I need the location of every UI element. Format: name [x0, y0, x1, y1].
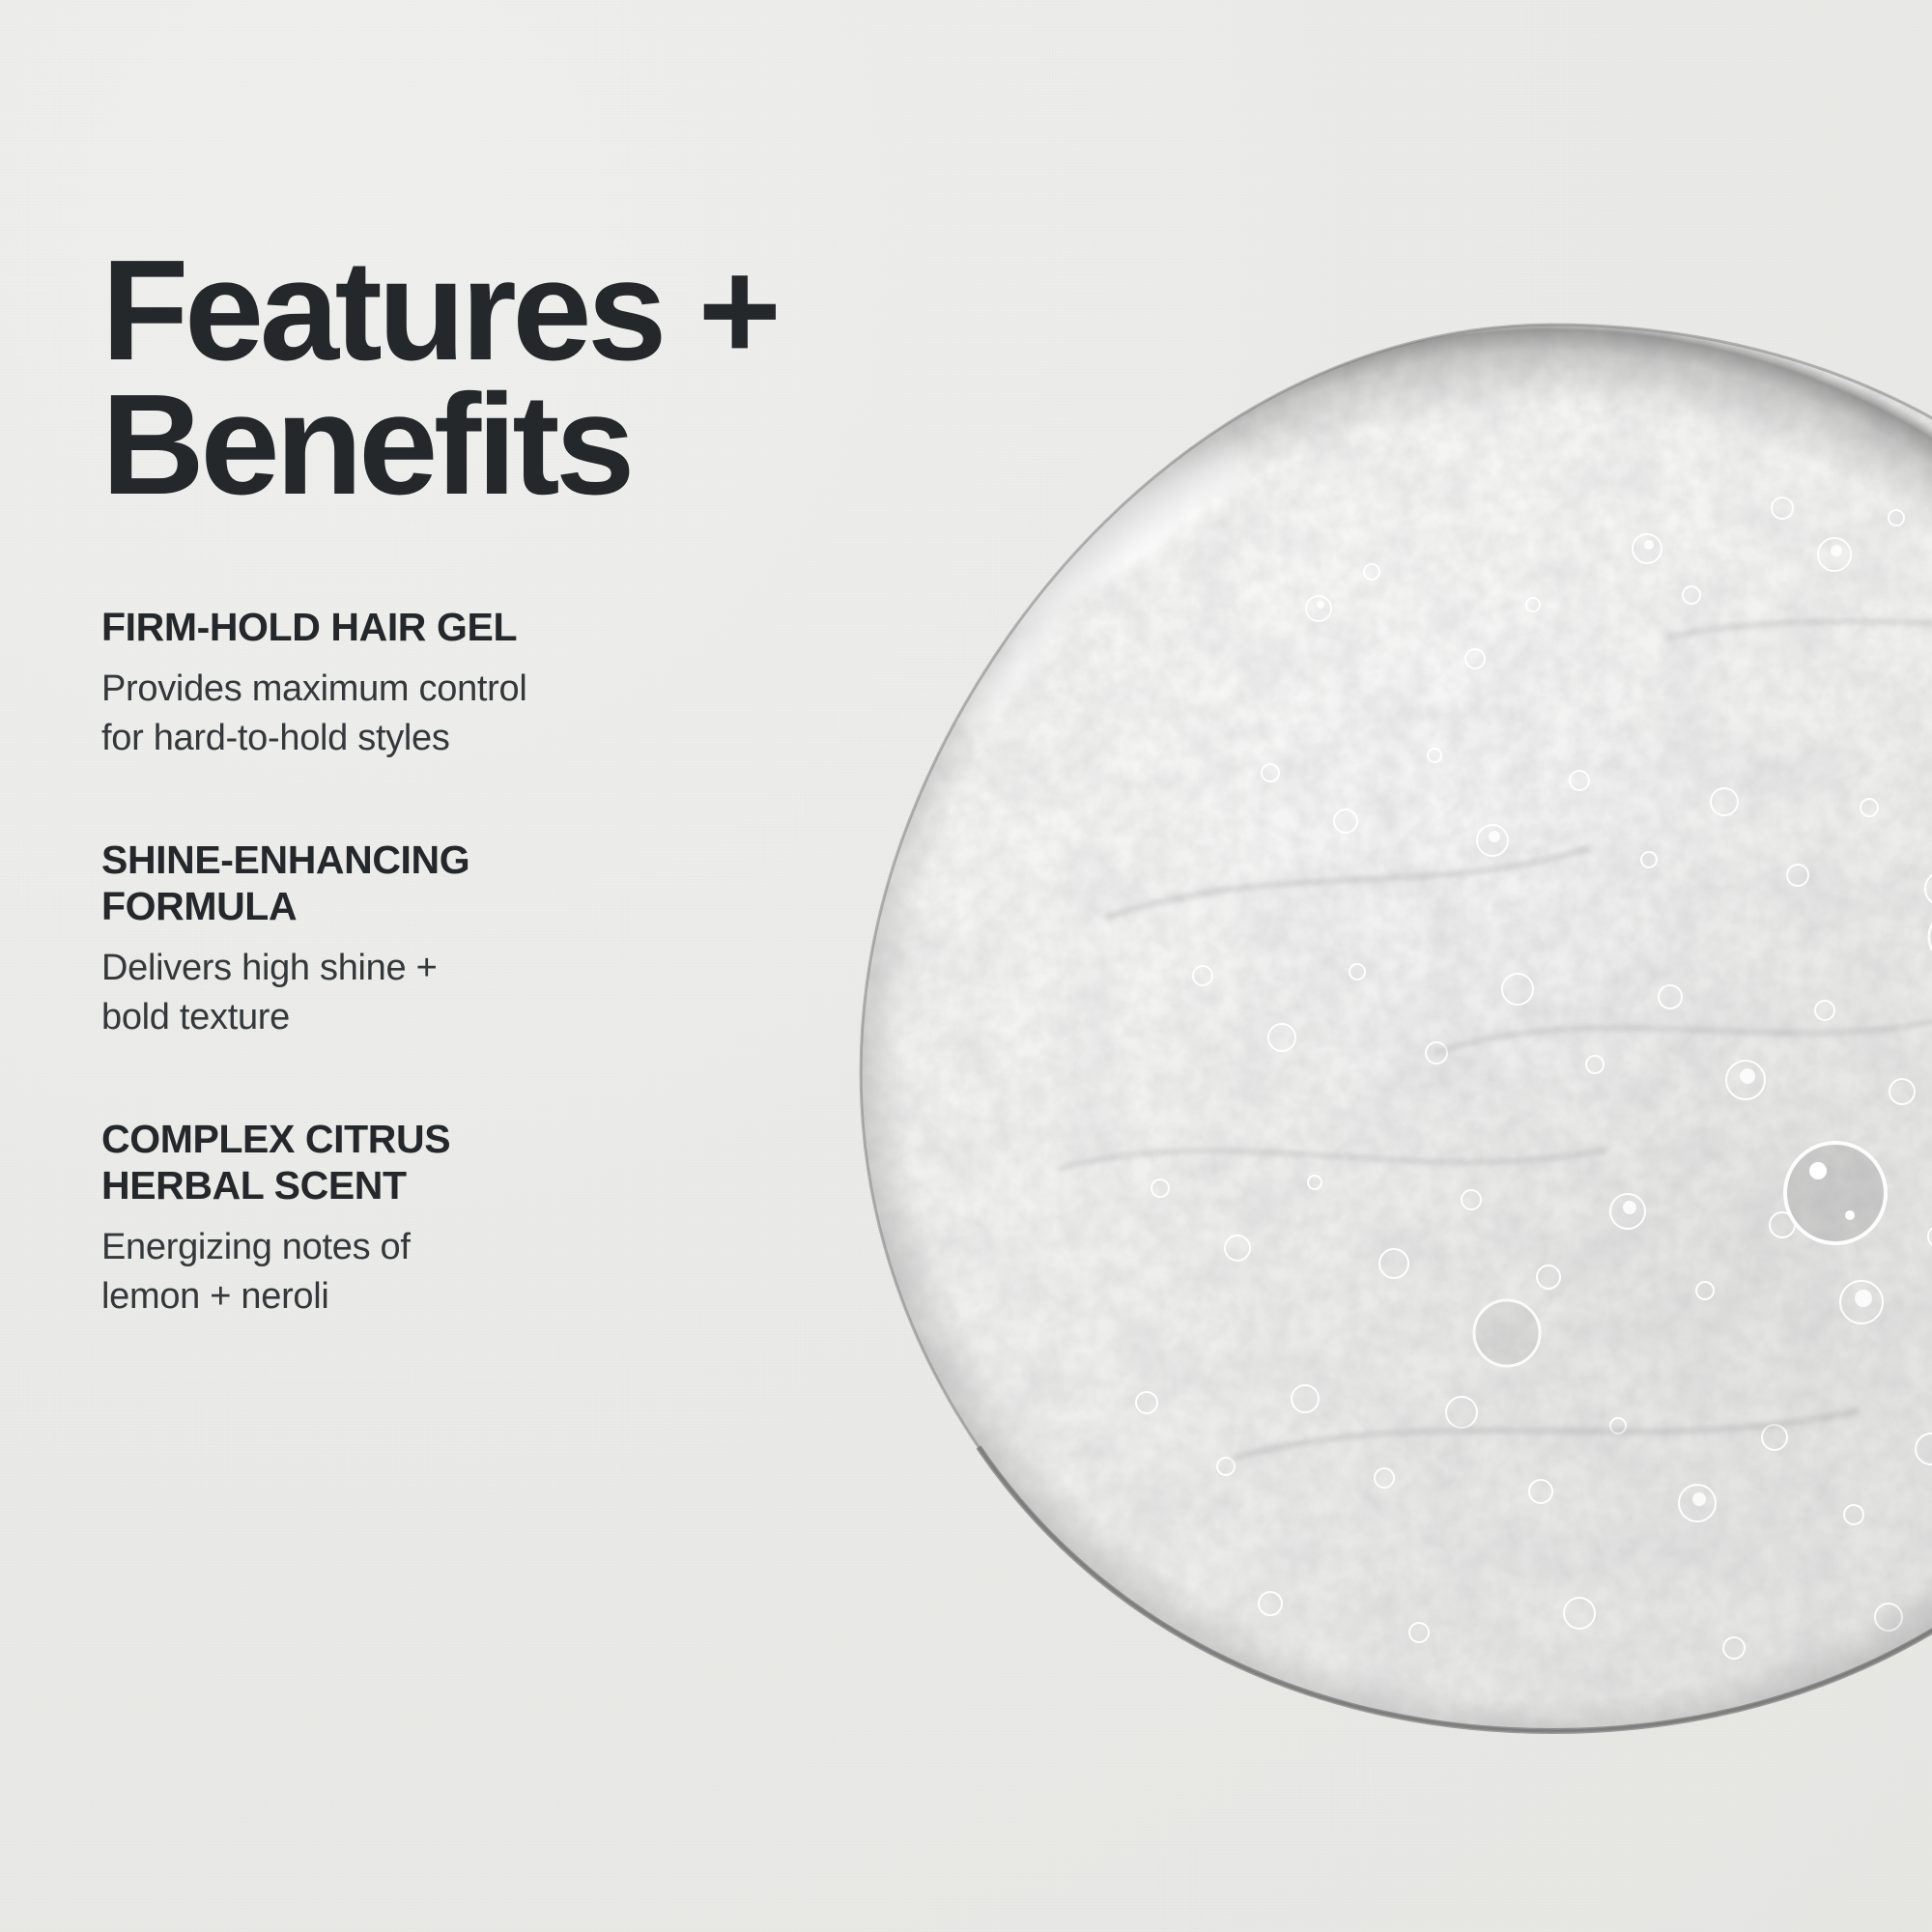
- feature-item-complex-citrus-herbal-scent: COMPLEX CITRUS HERBAL SCENT Energizing n…: [101, 1117, 778, 1321]
- feature-title: SHINE-ENHANCING FORMULA: [101, 838, 778, 930]
- feature-title: COMPLEX CITRUS HERBAL SCENT: [101, 1117, 778, 1209]
- page-title: Features + Benefits: [101, 243, 778, 512]
- feature-description: Provides maximum control for hard-to-hol…: [101, 665, 778, 762]
- feature-item-shine-enhancing-formula: SHINE-ENHANCING FORMULA Delivers high sh…: [101, 838, 778, 1041]
- feature-description: Delivers high shine + bold texture: [101, 944, 778, 1041]
- features-list: FIRM-HOLD HAIR GEL Provides maximum cont…: [101, 605, 778, 1321]
- feature-title: FIRM-HOLD HAIR GEL: [101, 605, 778, 651]
- feature-item-firm-hold-hair-gel: FIRM-HOLD HAIR GEL Provides maximum cont…: [101, 605, 778, 762]
- product-feature-card: Features + Benefits FIRM-HOLD HAIR GEL P…: [0, 0, 1932, 1932]
- content-column: Features + Benefits FIRM-HOLD HAIR GEL P…: [101, 243, 778, 1321]
- feature-description: Energizing notes of lemon + neroli: [101, 1223, 778, 1321]
